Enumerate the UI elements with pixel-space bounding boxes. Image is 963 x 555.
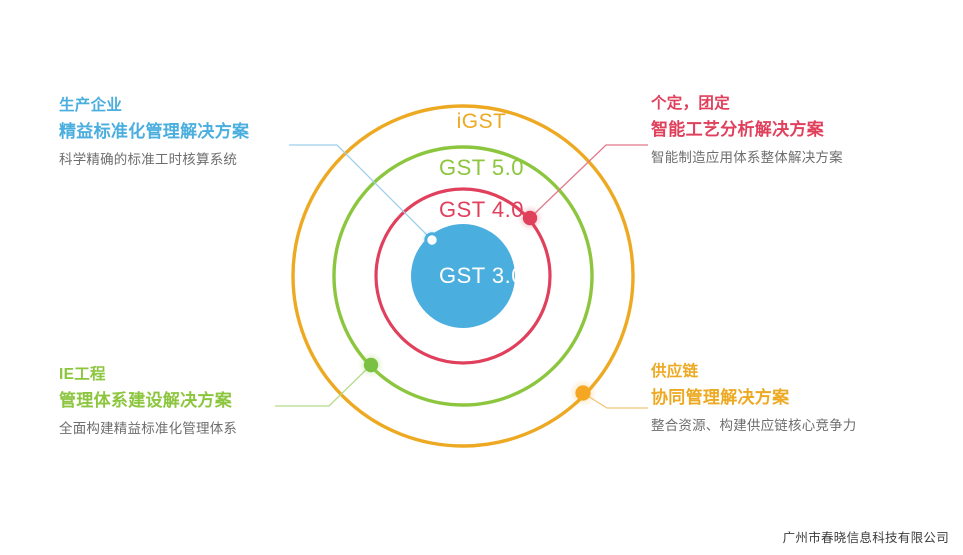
callout-bottom-right-title: 协同管理解决方案 [651, 387, 857, 409]
callout-bottom-left-title: 管理体系建设解决方案 [59, 390, 237, 412]
callout-top-right-subtitle: 个定，团定 [651, 94, 843, 114]
concentric-rings-diagram [0, 0, 963, 555]
callout-top-left-subtitle: 生产企业 [59, 96, 249, 116]
callout-bottom-right: 供应链 协同管理解决方案 整合资源、构建供应链核心竞争力 [651, 362, 857, 435]
callout-top-left-title: 精益标准化管理解决方案 [59, 121, 249, 143]
connector-line-top-right [530, 145, 648, 218]
callout-bottom-left-description: 全面构建精益标准化管理体系 [59, 420, 237, 438]
marker-dot-top-right [523, 211, 537, 225]
callout-bottom-left-subtitle: IE工程 [59, 365, 237, 385]
callout-bottom-right-description: 整合资源、构建供应链核心竞争力 [651, 417, 857, 435]
footer-company-name: 广州市春晓信息科技有限公司 [783, 527, 949, 546]
callout-bottom-left: IE工程 管理体系建设解决方案 全面构建精益标准化管理体系 [59, 365, 237, 438]
callout-top-right: 个定，团定 智能工艺分析解决方案 智能制造应用体系整体解决方案 [651, 94, 843, 167]
callout-top-right-title: 智能工艺分析解决方案 [651, 119, 843, 141]
callout-top-left: 生产企业 精益标准化管理解决方案 科学精确的标准工时核算系统 [59, 96, 249, 169]
callout-bottom-right-subtitle: 供应链 [651, 362, 857, 382]
marker-dot-bottom-left [364, 358, 378, 372]
marker-dot-bottom-right [575, 385, 590, 400]
marker-dot-top-left [426, 234, 438, 246]
callout-top-right-description: 智能制造应用体系整体解决方案 [651, 149, 843, 167]
callout-top-left-description: 科学精确的标准工时核算系统 [59, 151, 249, 169]
diagram-canvas: iGST GST 5.0 GST 4.0 GST 3.0 生产企业 精益标准化管… [0, 0, 963, 555]
